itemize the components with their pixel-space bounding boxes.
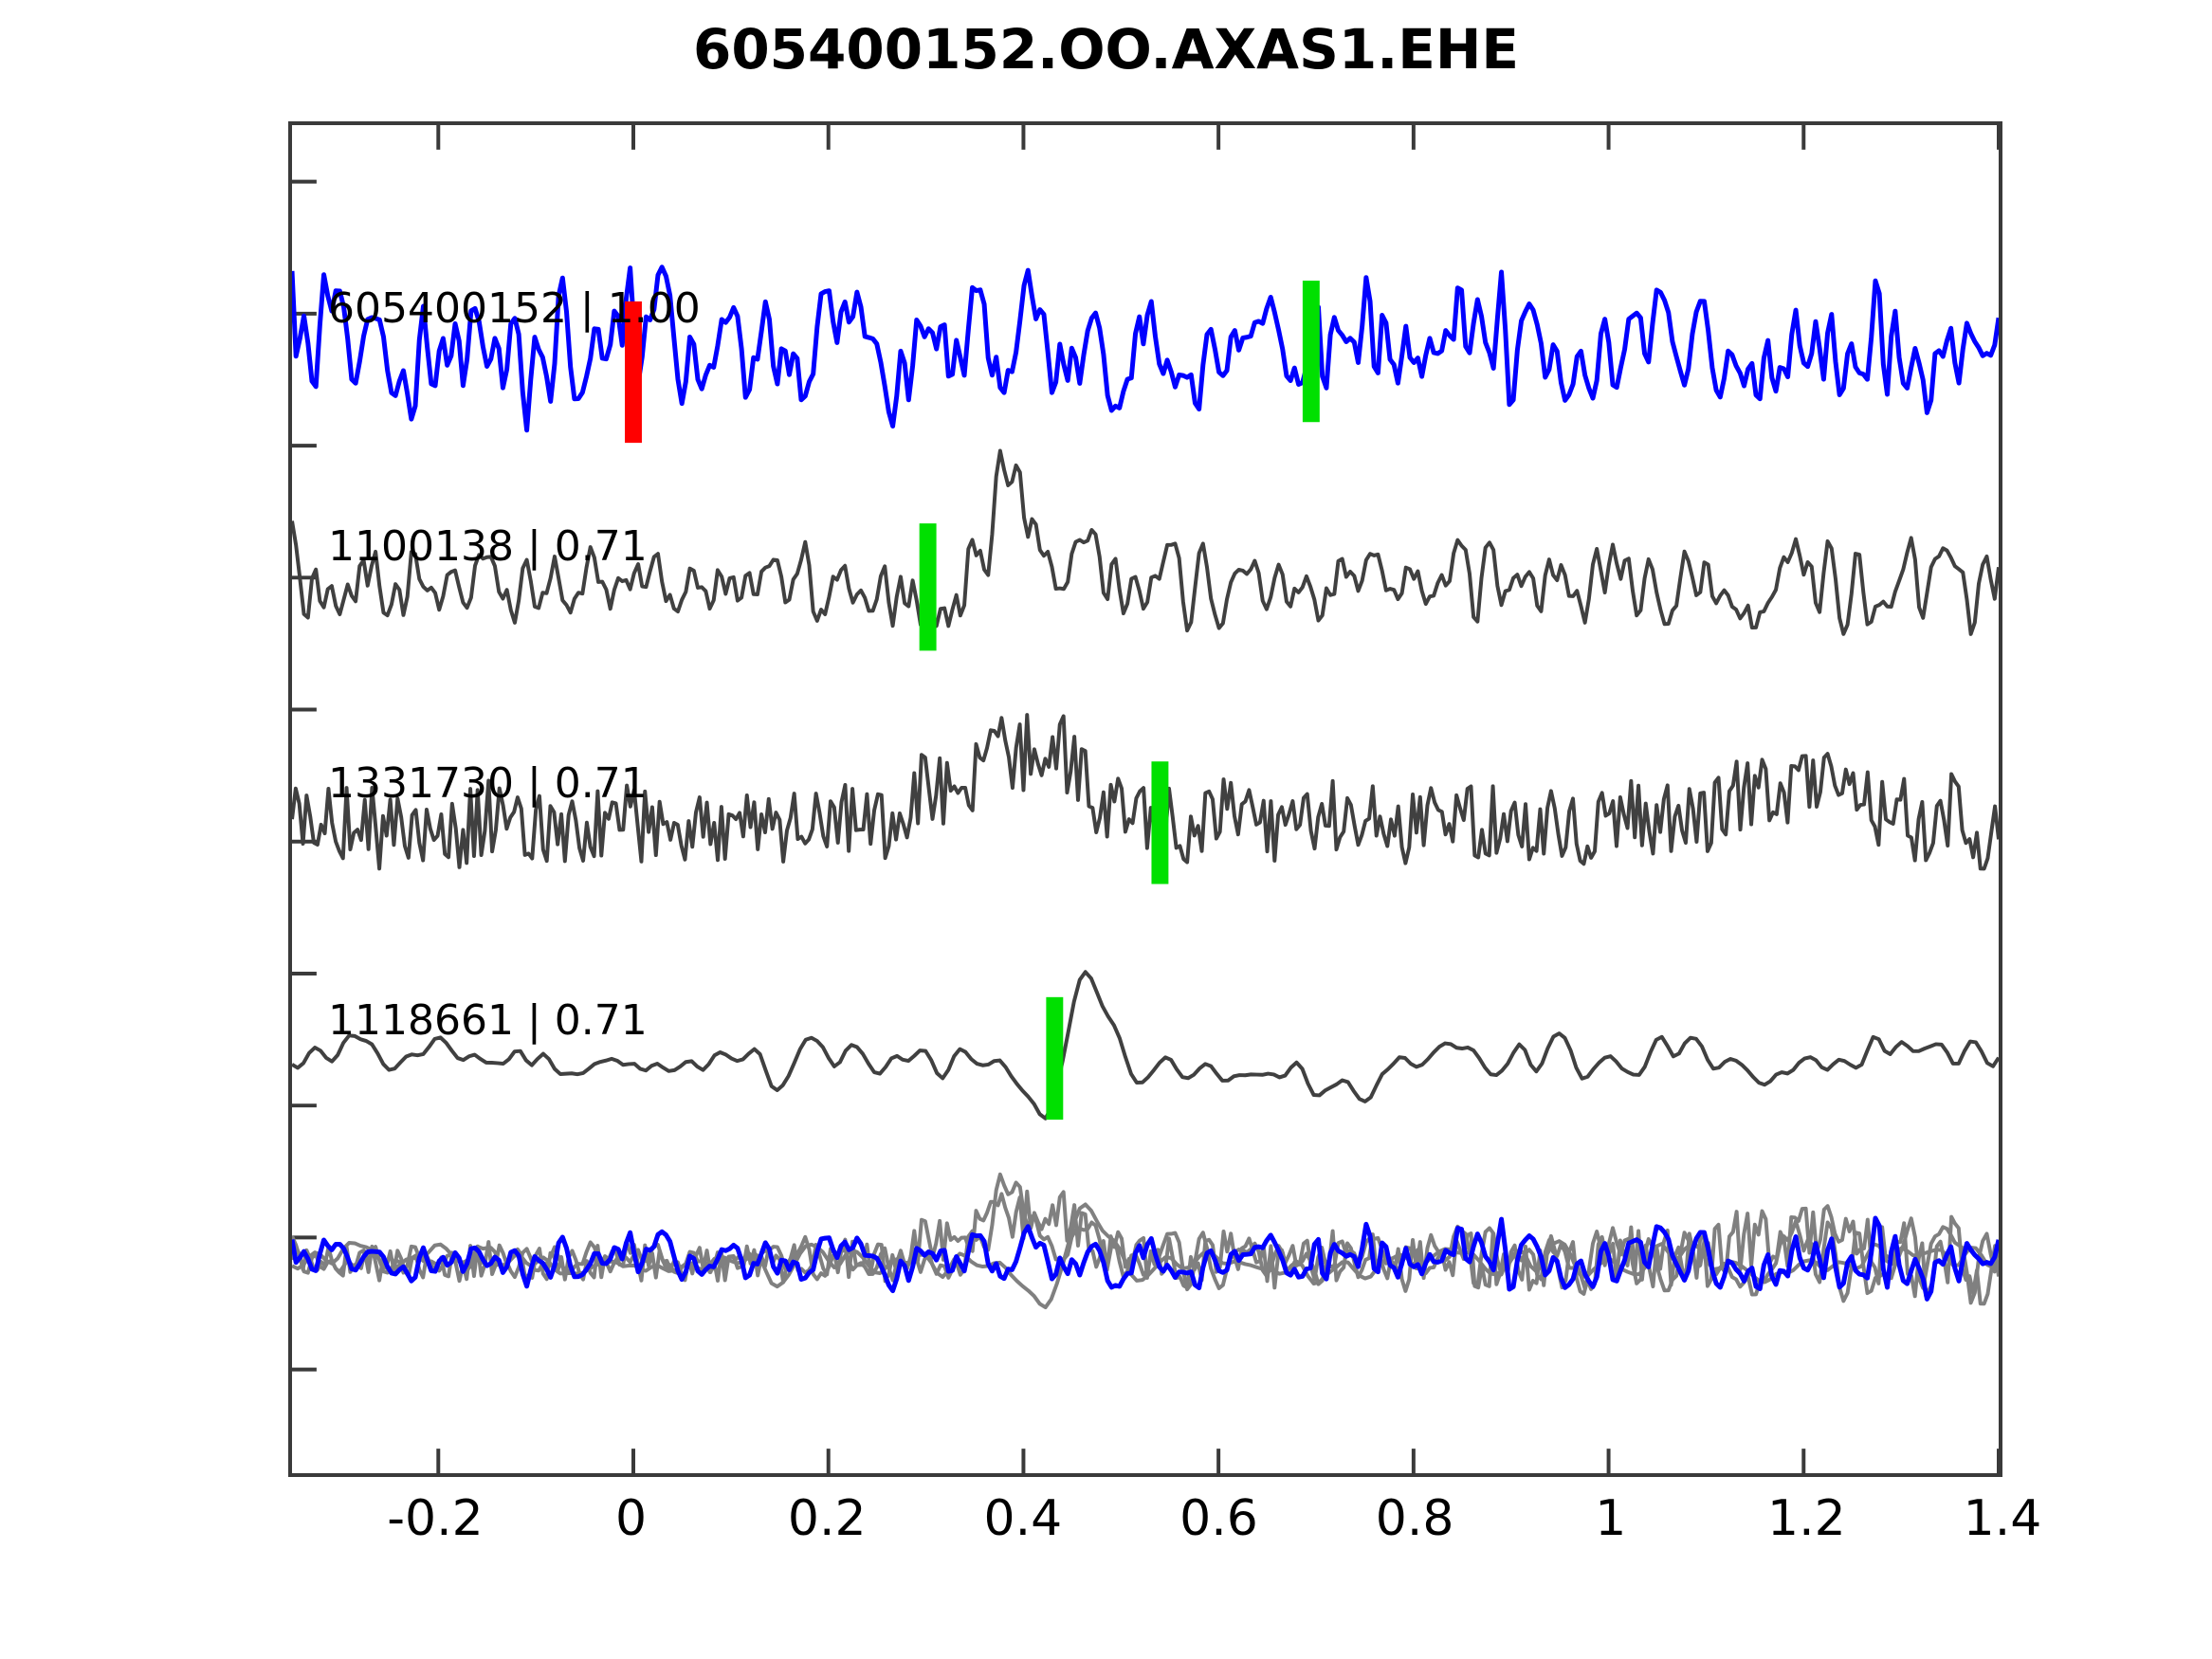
trace-label-1: 1100138 | 0.71 bbox=[328, 522, 648, 571]
x-tick-label-4: 0.6 bbox=[1179, 1490, 1258, 1547]
waveform-plot-page: 605400152.OO.AXAS1.EHE 605400152 | 1.00 … bbox=[0, 0, 2212, 1659]
pick-marker-1118661-0 bbox=[1046, 997, 1063, 1120]
x-tick-label-1: 0 bbox=[615, 1490, 647, 1547]
waveform-trace-3 bbox=[292, 972, 1999, 1119]
pick-marker-605400152-1 bbox=[1303, 281, 1320, 422]
trace-label-3: 1118661 | 0.71 bbox=[328, 996, 648, 1045]
pick-marker-1331730-0 bbox=[1151, 761, 1168, 884]
trace-label-0: 605400152 | 1.00 bbox=[328, 284, 701, 333]
x-axis-tick-labels: -0.200.20.40.60.811.21.4 bbox=[288, 1490, 2002, 1566]
trace-label-2: 1331730 | 0.71 bbox=[328, 759, 648, 808]
x-tick-label-5: 0.8 bbox=[1376, 1490, 1454, 1547]
x-tick-label-8: 1.4 bbox=[1964, 1490, 2042, 1547]
pick-marker-1100138-0 bbox=[920, 523, 937, 650]
x-tick-label-0: -0.2 bbox=[387, 1490, 483, 1547]
x-tick-label-6: 1 bbox=[1595, 1490, 1626, 1547]
page-title: 605400152.OO.AXAS1.EHE bbox=[0, 17, 2212, 82]
x-tick-label-7: 1.2 bbox=[1767, 1490, 1846, 1547]
x-tick-label-2: 0.2 bbox=[788, 1490, 867, 1547]
x-tick-label-3: 0.4 bbox=[983, 1490, 1062, 1547]
